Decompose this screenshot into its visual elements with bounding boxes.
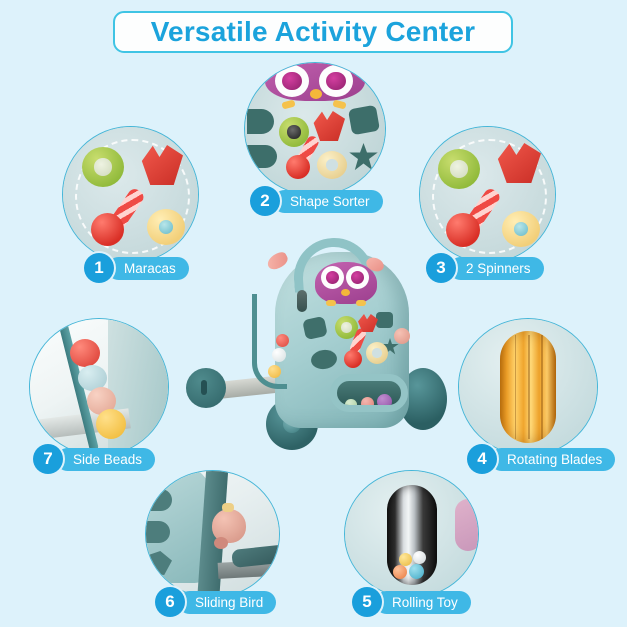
callout-7[interactable]: 7 Side Beads — [33, 444, 155, 474]
sorter-owl-foot-right — [332, 99, 346, 109]
capsule-ball-orange — [393, 565, 407, 579]
walker-owl-foot-left — [326, 300, 336, 306]
sorter-cream-ring-hole — [326, 159, 339, 171]
maracas-ball — [91, 213, 124, 246]
callout-5-label: Rolling Toy — [375, 591, 471, 614]
sorter-green-ring-hole — [287, 125, 300, 138]
callout-3-number: 3 — [426, 253, 456, 283]
infographic-canvas: Versatile Activity Center — [0, 0, 627, 627]
page-title-text: Versatile Activity Center — [151, 16, 476, 48]
callout-2[interactable]: 2 Shape Sorter — [250, 186, 383, 216]
sorter-owl-pupil-left — [282, 72, 302, 91]
walker-cream-ring-hole — [372, 348, 381, 357]
walker-ball-window — [330, 374, 408, 412]
sorter-owl-beak — [310, 89, 322, 99]
callout-1-number: 1 — [84, 253, 114, 283]
walker-window-ball-purple — [377, 394, 392, 409]
sliding-bird-cutout-top — [146, 489, 172, 511]
callout-5-number: 5 — [352, 587, 382, 617]
walker-ear-left — [265, 250, 290, 272]
walker-owl-eye-left — [321, 266, 344, 289]
sliding-bird-cutout-mid — [146, 521, 170, 543]
spinners-scene — [420, 127, 555, 262]
walker-window-ball-mint — [345, 399, 357, 410]
callout-5[interactable]: 5 Rolling Toy — [352, 587, 471, 617]
walker-owl-pupil-left — [326, 271, 339, 284]
callout-2-label: Shape Sorter — [273, 190, 383, 213]
maracas-scene — [63, 127, 198, 262]
feature-photo-rolling-toy — [344, 470, 479, 598]
callout-6[interactable]: 6 Sliding Bird — [155, 587, 276, 617]
rolling-toy-pink-accent — [455, 499, 479, 551]
page-title: Versatile Activity Center — [113, 11, 513, 53]
sorter-maraca-fork — [313, 111, 345, 141]
callout-3-label: 2 Spinners — [449, 257, 544, 280]
sorter-maraca-ball — [286, 155, 310, 179]
walker-rail-bead-red — [276, 334, 289, 347]
capsule-ball-white — [413, 551, 426, 564]
rolling-toy-scene — [345, 471, 478, 597]
capsule-ball-yellow — [399, 553, 412, 566]
sorter-cream-ring — [317, 151, 347, 179]
spinner-yellow — [502, 211, 540, 247]
walker-window-ball-pink — [361, 397, 374, 410]
maracas-yellow-disc-hub — [159, 220, 173, 234]
callout-1-label: Maracas — [107, 257, 189, 280]
sorter-owl-pupil-right — [326, 72, 346, 91]
walker-cream-ring — [366, 342, 388, 364]
sorter-owl-foot-left — [281, 99, 295, 109]
sliding-bird-scene — [146, 471, 279, 597]
blade-seam-1 — [515, 335, 517, 438]
spinner-green-hole — [450, 160, 468, 178]
blade-seam-2 — [528, 335, 530, 438]
callout-7-label: Side Beads — [56, 448, 155, 471]
callout-4-number: 4 — [467, 444, 497, 474]
capsule-ball-blue — [409, 564, 424, 579]
walker-owl-eye-right — [346, 266, 369, 289]
spinner-green — [438, 149, 480, 189]
sorter-owl-eye-right — [319, 65, 353, 97]
maracas-green-spinner — [82, 147, 124, 187]
rolling-toy-capsule — [387, 485, 437, 585]
callout-6-number: 6 — [155, 587, 185, 617]
spinner-yellow-hub — [514, 222, 528, 236]
callout-6-label: Sliding Bird — [178, 591, 276, 614]
callout-3[interactable]: 3 2 Spinners — [426, 253, 544, 283]
walker-rail-bead-pink — [394, 328, 410, 344]
sorter-owl-eye-left — [275, 65, 309, 97]
sorter-hole-star-right — [349, 143, 378, 171]
spinners-maraca-ball — [446, 213, 480, 247]
feature-photo-side-beads — [29, 318, 169, 456]
sorter-hole-oval-left — [247, 145, 277, 168]
sorter-hole-pentagon-right — [348, 105, 380, 135]
feature-photo-spinners — [419, 126, 556, 263]
walker-owl-foot-right — [356, 300, 366, 306]
callout-2-number: 2 — [250, 186, 280, 216]
side-bead-red — [70, 339, 100, 367]
callout-7-number: 7 — [33, 444, 63, 474]
feature-photo-shape-sorter — [244, 62, 386, 196]
walker-green-ring-hole — [341, 322, 351, 332]
maracas-yellow-disc — [147, 209, 185, 245]
side-beads-scene — [30, 319, 168, 455]
walker-bar-end-slot — [201, 380, 207, 395]
side-bead-yellow — [96, 409, 126, 439]
product-walker-image — [180, 232, 452, 452]
walker-maraca-ball — [344, 350, 362, 368]
sliding-bird-beak — [222, 503, 234, 512]
walker-speaker-slot — [297, 290, 307, 312]
walker-rail-bead-white — [272, 348, 286, 362]
maracas-green-spinner-hole — [94, 158, 112, 176]
sorter-hole-semicircle-left — [247, 109, 274, 134]
rotating-blades-scene — [459, 319, 597, 455]
shape-sorter-scene — [245, 63, 385, 195]
walker-rail-bead-yellow — [268, 365, 281, 378]
callout-4[interactable]: 4 Rotating Blades — [467, 444, 615, 474]
walker-owl-pupil-right — [351, 271, 364, 284]
walker-owl-beak — [341, 289, 350, 296]
feature-photo-rotating-blades — [458, 318, 598, 456]
feature-photo-maracas — [62, 126, 199, 263]
callout-1[interactable]: 1 Maracas — [84, 253, 189, 283]
feature-photo-sliding-bird — [145, 470, 280, 598]
blade-seam-3 — [541, 335, 543, 438]
callout-4-label: Rotating Blades — [490, 448, 615, 471]
sliding-bird-tail — [214, 537, 228, 549]
walker-shape-hole-square — [376, 312, 393, 328]
rotating-blades-barrel — [500, 331, 556, 443]
